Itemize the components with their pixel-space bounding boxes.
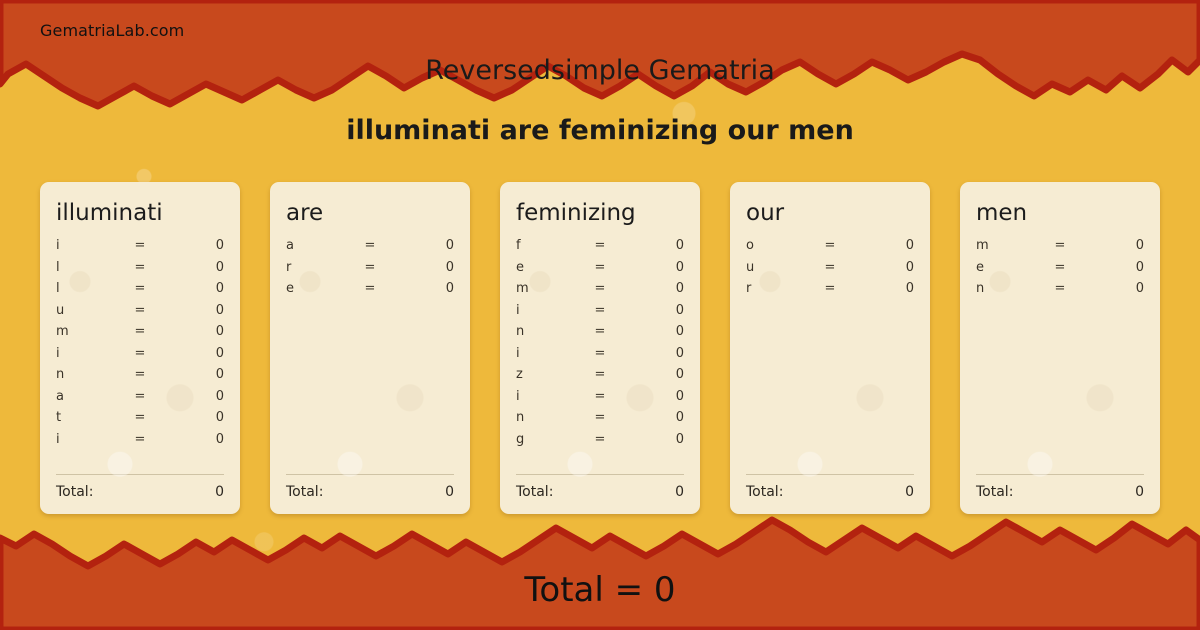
equals-sign: = [810,238,850,253]
letter-value: 0 [390,260,454,275]
letter-char: t [56,410,120,425]
equals-sign: = [810,260,850,275]
letter-value: 0 [1080,260,1144,275]
word-cards-row: illuminatii=0l=0l=0u=0m=0i=0n=0a=0t=0i=0… [40,182,1160,514]
letter-row: m=0 [516,281,684,303]
letter-char: n [516,410,580,425]
card-word-title: our [746,200,914,226]
letter-list: i=0l=0l=0u=0m=0i=0n=0a=0t=0i=0 [56,238,224,468]
word-card: feminizingf=0e=0m=0i=0n=0i=0z=0i=0n=0g=0… [500,182,700,514]
letter-char: e [976,260,1040,275]
equals-sign: = [810,281,850,296]
letter-char: u [746,260,810,275]
letter-row: e=0 [976,260,1144,282]
card-total-value: 0 [445,484,454,500]
letter-row: l=0 [56,260,224,282]
card-total-label: Total: [516,484,675,500]
letter-char: i [516,346,580,361]
card-divider [746,474,914,475]
letter-value: 0 [390,281,454,296]
equals-sign: = [580,432,620,447]
letter-row: n=0 [56,367,224,389]
equals-sign: = [350,238,390,253]
equals-sign: = [1040,260,1080,275]
letter-char: m [976,238,1040,253]
letter-value: 0 [620,260,684,275]
equals-sign: = [120,260,160,275]
card-total-value: 0 [215,484,224,500]
letter-char: r [746,281,810,296]
card-total-value: 0 [675,484,684,500]
equals-sign: = [580,389,620,404]
equals-sign: = [580,281,620,296]
phrase-title: illuminati are feminizing our men [0,116,1200,146]
equals-sign: = [580,324,620,339]
letter-value: 0 [160,303,224,318]
card-word-title: men [976,200,1144,226]
letter-row: a=0 [56,389,224,411]
card-total-row: Total:0 [56,484,224,500]
letter-char: r [286,260,350,275]
equals-sign: = [120,281,160,296]
letter-row: m=0 [56,324,224,346]
letter-char: m [56,324,120,339]
letter-row: i=0 [516,346,684,368]
card-divider [516,474,684,475]
equals-sign: = [580,410,620,425]
letter-row: i=0 [56,238,224,260]
letter-value: 0 [160,260,224,275]
letter-list: a=0r=0e=0 [286,238,454,468]
letter-row: r=0 [746,281,914,303]
letter-list: f=0e=0m=0i=0n=0i=0z=0i=0n=0g=0 [516,238,684,468]
card-total-label: Total: [286,484,445,500]
letter-row: n=0 [516,324,684,346]
letter-row: i=0 [56,432,224,454]
letter-row: r=0 [286,260,454,282]
card-total-row: Total:0 [286,484,454,500]
letter-char: g [516,432,580,447]
letter-row: l=0 [56,281,224,303]
equals-sign: = [120,346,160,361]
letter-value: 0 [620,389,684,404]
letter-row: i=0 [56,346,224,368]
letter-row: i=0 [516,389,684,411]
letter-char: o [746,238,810,253]
letter-value: 0 [390,238,454,253]
equals-sign: = [580,260,620,275]
letter-row: e=0 [286,281,454,303]
card-word-title: are [286,200,454,226]
card-total-row: Total:0 [976,484,1144,500]
letter-value: 0 [1080,238,1144,253]
letter-value: 0 [160,238,224,253]
site-watermark: GematriaLab.com [40,21,184,40]
letter-char: a [286,238,350,253]
poster-canvas: GematriaLab.com Reversedsimple Gematria … [0,0,1200,630]
letter-char: i [56,346,120,361]
equals-sign: = [120,389,160,404]
letter-row: n=0 [976,281,1144,303]
letter-char: z [516,367,580,382]
letter-row: t=0 [56,410,224,432]
letter-row: n=0 [516,410,684,432]
equals-sign: = [1040,281,1080,296]
letter-char: u [56,303,120,318]
letter-value: 0 [620,346,684,361]
equals-sign: = [120,367,160,382]
equals-sign: = [580,303,620,318]
letter-row: g=0 [516,432,684,454]
equals-sign: = [350,260,390,275]
letter-char: i [516,303,580,318]
letter-char: f [516,238,580,253]
card-total-value: 0 [1135,484,1144,500]
letter-value: 0 [620,410,684,425]
letter-value: 0 [620,303,684,318]
letter-char: i [516,389,580,404]
letter-value: 0 [160,346,224,361]
letter-char: i [56,432,120,447]
card-total-label: Total: [56,484,215,500]
bottom-torn-band: Total = 0 [0,510,1200,630]
equals-sign: = [580,346,620,361]
equals-sign: = [120,238,160,253]
letter-row: e=0 [516,260,684,282]
letter-list: o=0u=0r=0 [746,238,914,468]
letter-value: 0 [160,410,224,425]
equals-sign: = [120,410,160,425]
letter-value: 0 [620,367,684,382]
grand-total: Total = 0 [0,570,1200,610]
letter-value: 0 [850,281,914,296]
card-total-row: Total:0 [746,484,914,500]
word-card: area=0r=0e=0Total:0 [270,182,470,514]
equals-sign: = [580,238,620,253]
card-total-label: Total: [976,484,1135,500]
letter-value: 0 [620,281,684,296]
letter-char: l [56,260,120,275]
letter-row: o=0 [746,238,914,260]
letter-row: a=0 [286,238,454,260]
letter-row: u=0 [56,303,224,325]
letter-row: f=0 [516,238,684,260]
card-total-label: Total: [746,484,905,500]
letter-value: 0 [160,432,224,447]
letter-char: e [516,260,580,275]
equals-sign: = [120,324,160,339]
card-word-title: feminizing [516,200,684,226]
letter-value: 0 [160,324,224,339]
letter-char: a [56,389,120,404]
letter-value: 0 [850,238,914,253]
letter-value: 0 [850,260,914,275]
card-divider [976,474,1144,475]
letter-value: 0 [160,367,224,382]
letter-value: 0 [1080,281,1144,296]
equals-sign: = [350,281,390,296]
letter-list: m=0e=0n=0 [976,238,1144,468]
equals-sign: = [120,303,160,318]
letter-value: 0 [160,389,224,404]
equals-sign: = [1040,238,1080,253]
letter-row: u=0 [746,260,914,282]
letter-char: n [56,367,120,382]
equals-sign: = [580,367,620,382]
heading-block: Reversedsimple Gematria illuminati are f… [0,56,1200,145]
cipher-title: Reversedsimple Gematria [0,56,1200,86]
letter-row: m=0 [976,238,1144,260]
letter-char: n [976,281,1040,296]
card-total-row: Total:0 [516,484,684,500]
letter-char: i [56,238,120,253]
letter-value: 0 [620,238,684,253]
letter-char: n [516,324,580,339]
letter-char: m [516,281,580,296]
letter-value: 0 [620,432,684,447]
letter-char: l [56,281,120,296]
word-card: illuminatii=0l=0l=0u=0m=0i=0n=0a=0t=0i=0… [40,182,240,514]
word-card: ouro=0u=0r=0Total:0 [730,182,930,514]
word-card: menm=0e=0n=0Total:0 [960,182,1160,514]
letter-char: e [286,281,350,296]
card-divider [286,474,454,475]
letter-value: 0 [160,281,224,296]
letter-row: i=0 [516,303,684,325]
card-total-value: 0 [905,484,914,500]
equals-sign: = [120,432,160,447]
letter-row: z=0 [516,367,684,389]
letter-value: 0 [620,324,684,339]
card-word-title: illuminati [56,200,224,226]
card-divider [56,474,224,475]
